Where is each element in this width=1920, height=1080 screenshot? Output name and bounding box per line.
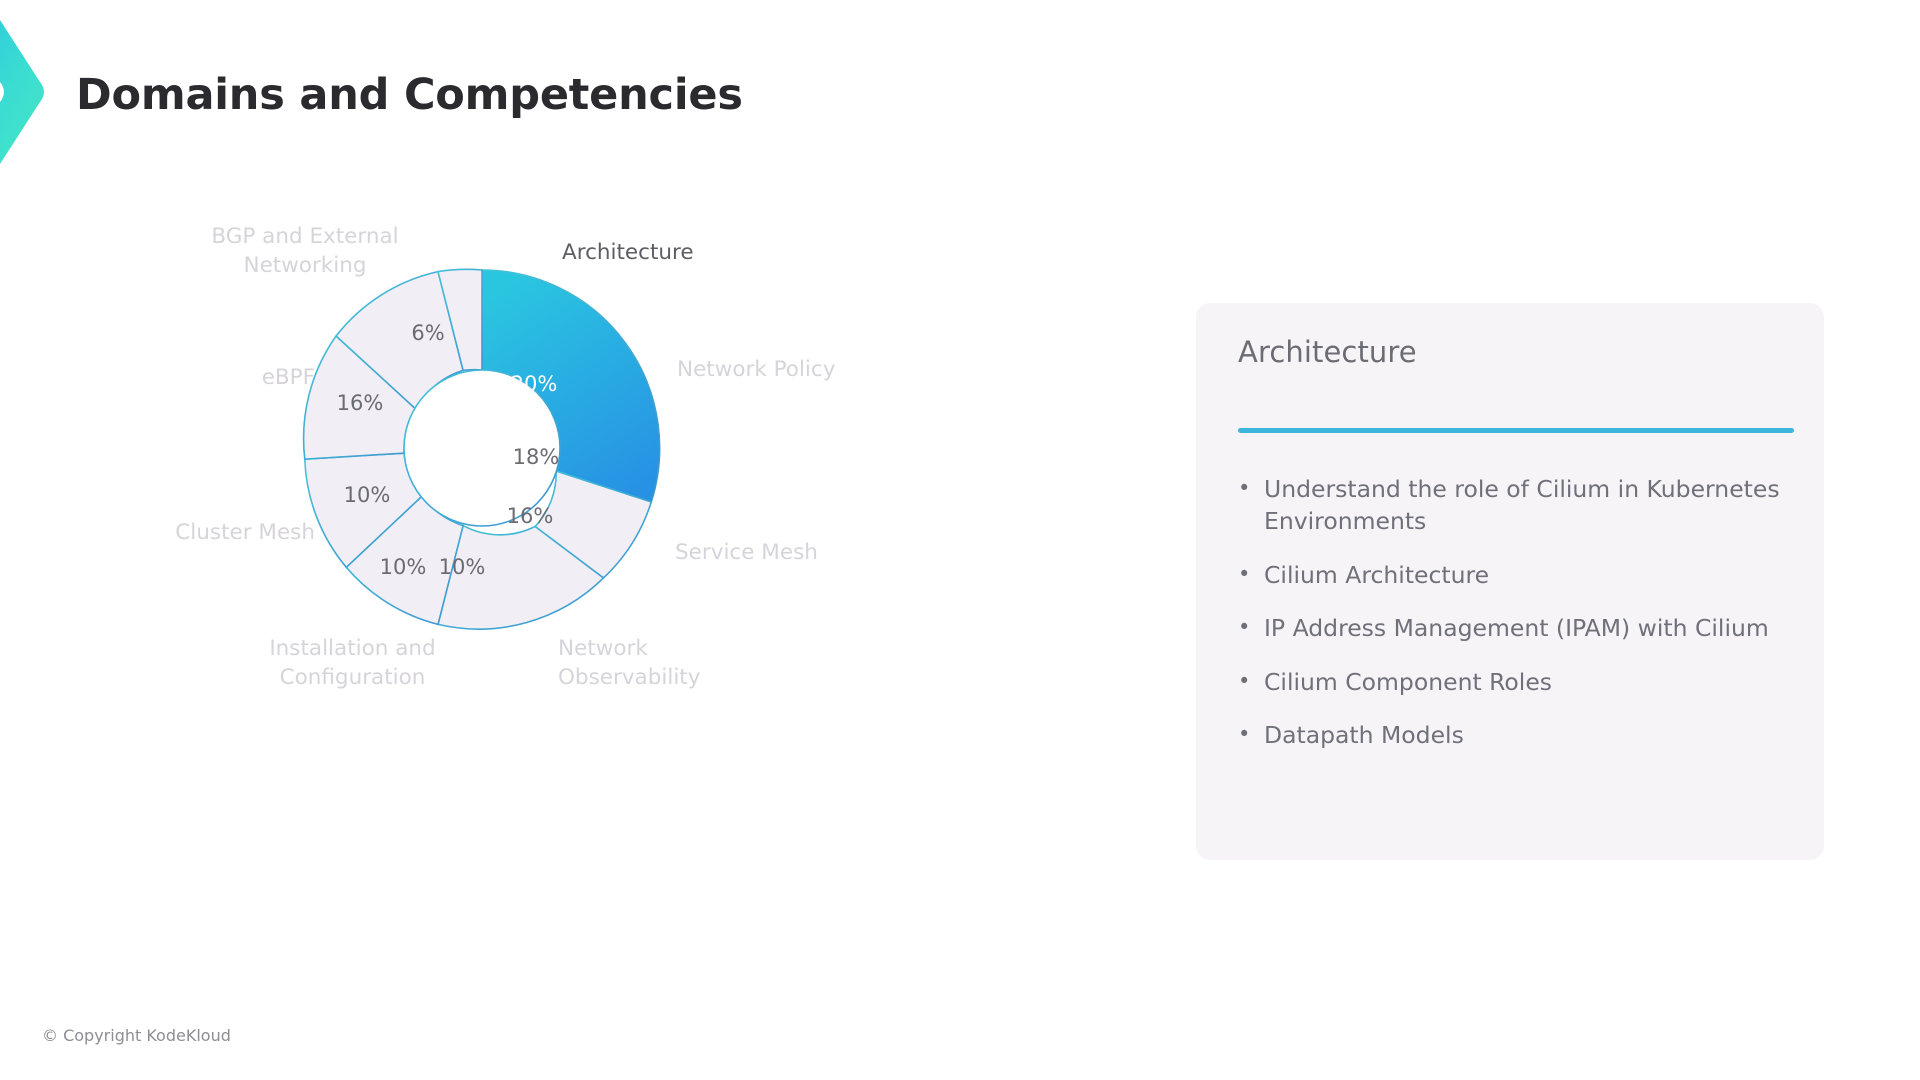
chart-label-installation-and-configuration[interactable]: Installation and Configuration xyxy=(210,634,495,692)
segment-value-cluster-mesh: 10% xyxy=(344,483,391,507)
slide-root: Domains and Competencies xyxy=(0,0,1920,1080)
bullet-icon: • xyxy=(1238,559,1264,591)
list-item-text: Cilium Architecture xyxy=(1264,559,1804,591)
list-item-text: Cilium Component Roles xyxy=(1264,666,1804,698)
domain-detail-card: Architecture • Understand the role of Ci… xyxy=(1196,303,1824,860)
list-item: • Datapath Models xyxy=(1238,719,1804,751)
chart-label-ebpf[interactable]: eBPF xyxy=(85,363,315,392)
segment-value-installation-and-configuration: 10% xyxy=(380,555,427,579)
bullet-icon: • xyxy=(1238,612,1264,644)
kodekloud-chevron-logo xyxy=(0,16,58,168)
chart-label-network-observability[interactable]: Network Observability xyxy=(558,634,758,692)
list-item: • Cilium Architecture xyxy=(1238,559,1804,591)
segment-value-architecture: 20% xyxy=(511,372,558,396)
copyright-footer: © Copyright KodeKloud xyxy=(42,1026,231,1045)
segment-value-ebpf: 16% xyxy=(337,391,384,415)
bullet-icon: • xyxy=(1238,473,1264,505)
detail-card-accent-rule xyxy=(1238,428,1794,433)
list-item-text: Datapath Models xyxy=(1264,719,1804,751)
domains-donut-chart: 20% 18% 16% 10% 10% 10% 16% 6% Architect… xyxy=(130,250,900,830)
chart-label-network-policy[interactable]: Network Policy xyxy=(677,355,907,384)
list-item: • Cilium Component Roles xyxy=(1238,666,1804,698)
page-title: Domains and Competencies xyxy=(76,70,743,120)
list-item-text: IP Address Management (IPAM) with Cilium xyxy=(1264,612,1804,644)
segment-value-bgp-and-external-networking: 6% xyxy=(411,321,444,345)
bullet-icon: • xyxy=(1238,719,1264,751)
detail-card-title: Architecture xyxy=(1238,335,1417,369)
list-item-text: Understand the role of Cilium in Kuberne… xyxy=(1264,473,1804,538)
chart-label-cluster-mesh[interactable]: Cluster Mesh xyxy=(85,518,315,547)
segment-value-network-observability: 10% xyxy=(439,555,486,579)
chart-label-service-mesh[interactable]: Service Mesh xyxy=(675,538,905,567)
segment-value-network-policy: 18% xyxy=(513,445,560,469)
detail-card-list: • Understand the role of Cilium in Kuber… xyxy=(1238,473,1804,773)
list-item: • Understand the role of Cilium in Kuber… xyxy=(1238,473,1804,538)
segment-value-service-mesh: 16% xyxy=(507,504,554,528)
list-item: • IP Address Management (IPAM) with Cili… xyxy=(1238,612,1804,644)
chart-label-bgp-and-external-networking[interactable]: BGP and External Networking xyxy=(185,222,425,280)
chart-label-architecture[interactable]: Architecture xyxy=(562,238,792,267)
bullet-icon: • xyxy=(1238,666,1264,698)
